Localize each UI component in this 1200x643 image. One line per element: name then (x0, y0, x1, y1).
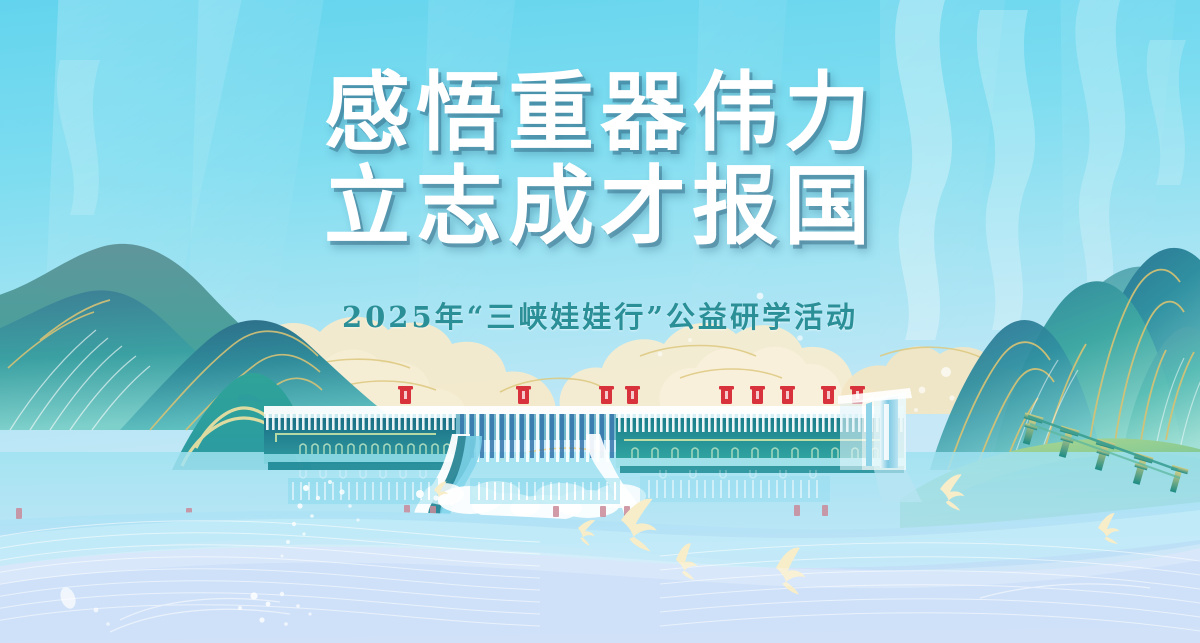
poster-banner: 感悟重器伟力 立志成才报国 2025年“三峡娃娃行”公益研学活动 (0, 0, 1200, 643)
illustration-canvas (0, 0, 1200, 643)
